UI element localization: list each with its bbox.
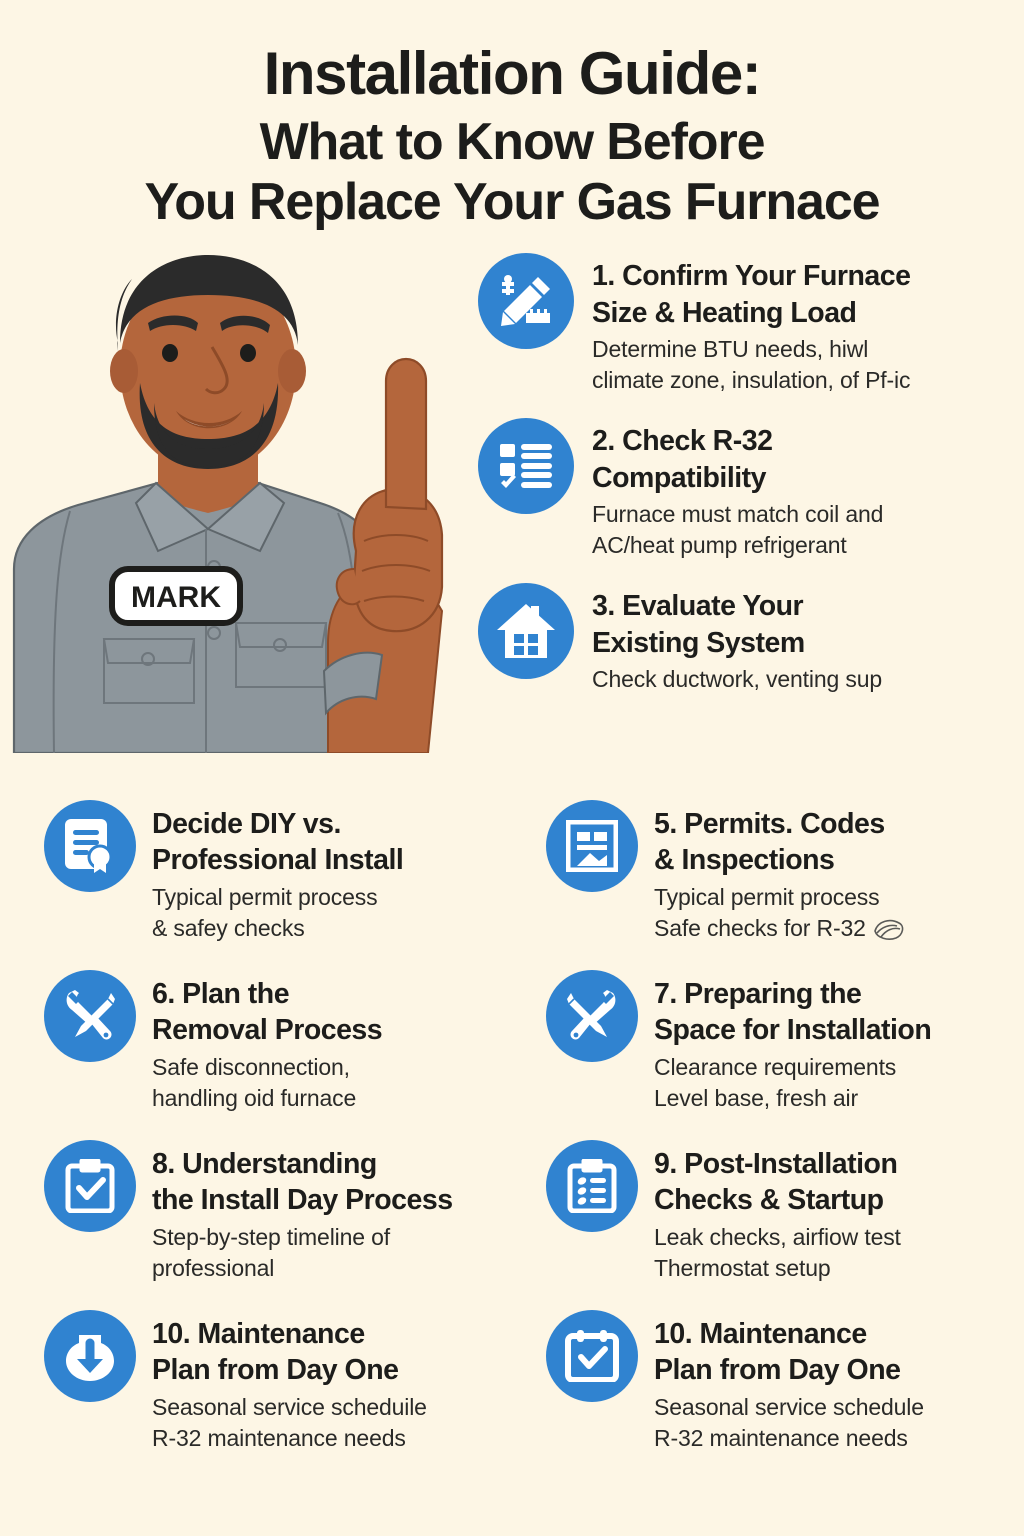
- item-title-line-1: 10. Maintenance: [152, 1318, 365, 1350]
- item-title-line-2: & Inspections: [654, 844, 834, 876]
- item-desc-line-2: Level base, fresh air: [654, 1085, 858, 1111]
- pencil-ruler-icon: [478, 253, 574, 349]
- title-line-3: You Replace Your Gas Furnace: [34, 172, 990, 233]
- item-text: 7. Preparing the Space for Installation …: [654, 970, 1016, 1113]
- checklist-icon: [478, 418, 574, 514]
- item-desc-line-1: Safe disconnection,: [152, 1054, 350, 1080]
- steps-grid: Decide DIY vs. Professional Install Typi…: [0, 800, 1024, 1480]
- list-item[interactable]: Decide DIY vs. Professional Install Typi…: [44, 800, 534, 970]
- item-desc-line-2: R-32 maintenance needs: [152, 1425, 406, 1451]
- item-title-line-2: Size & Heating Load: [592, 297, 856, 329]
- clipboard-check-icon: [44, 1140, 136, 1232]
- item-text: 6. Plan the Removal Process Safe disconn…: [152, 970, 534, 1113]
- list-item[interactable]: 2. Check R-32 Compatibility Furnace must…: [478, 418, 1018, 560]
- item-text: 8. Understanding the Install Day Process…: [152, 1140, 534, 1283]
- item-desc-line-1: Typical permit process: [654, 884, 880, 910]
- item-text: 2. Check R-32 Compatibility Furnace must…: [592, 418, 1018, 560]
- certificate-icon: [44, 800, 136, 892]
- item-title: 1. Confirm Your Furnace Size & Heating L…: [592, 258, 1018, 331]
- item-desc-line-1: Seasonal service schedule: [654, 1394, 924, 1420]
- item-title-line-1: 7. Preparing the: [654, 978, 861, 1010]
- item-description: Seasonal service scheduile R-32 maintena…: [152, 1392, 534, 1453]
- list-item[interactable]: 10. Maintenance Plan from Day One Season…: [546, 1310, 1016, 1480]
- item-desc-line-1: Step-by-step timeline of: [152, 1224, 390, 1250]
- item-desc-line-2: climate zone, insulation, of Pf-ic: [592, 367, 910, 393]
- item-title-line-1: 10. Maintenance: [654, 1318, 867, 1350]
- item-title-line-2: Professional Install: [152, 844, 403, 876]
- item-text: Decide DIY vs. Professional Install Typi…: [152, 800, 534, 943]
- top-section: MARK: [0, 251, 1024, 751]
- item-title: 10. Maintenance Plan from Day One: [152, 1316, 534, 1389]
- item-text: 10. Maintenance Plan from Day One Season…: [152, 1310, 534, 1453]
- item-title-line-2: Existing System: [592, 627, 805, 659]
- item-title: 10. Maintenance Plan from Day One: [654, 1316, 1016, 1389]
- item-desc-line-2: Thermostat setup: [654, 1255, 831, 1281]
- item-description: Leak checks, airfiow test Thermostat set…: [654, 1222, 1016, 1283]
- svg-text:MARK: MARK: [131, 581, 221, 614]
- list-item[interactable]: 10. Maintenance Plan from Day One Season…: [44, 1310, 534, 1480]
- item-desc-line-2: & safey checks: [152, 915, 305, 941]
- screwdriver-wrench-icon: [546, 970, 638, 1062]
- list-item[interactable]: 7. Preparing the Space for Installation …: [546, 970, 1016, 1140]
- item-text: 5. Permits. Codes & Inspections Typical …: [654, 800, 1016, 948]
- list-item[interactable]: 8. Understanding the Install Day Process…: [44, 1140, 534, 1310]
- download-arrow-icon: [44, 1310, 136, 1402]
- item-title-line-1: 6. Plan the: [152, 978, 289, 1010]
- scribble-artifact-icon: [872, 917, 906, 949]
- item-description: Seasonal service schedule R-32 maintenan…: [654, 1392, 1016, 1453]
- item-title-line-2: the Install Day Process: [152, 1184, 453, 1216]
- item-desc-line-1: Determine BTU needs, hiwl: [592, 336, 868, 362]
- item-description: Typical permit process Safe checks for R…: [654, 882, 1016, 948]
- item-desc-line-2: handling oid furnace: [152, 1085, 356, 1111]
- list-item[interactable]: 9. Post-Installation Checks & Startup Le…: [546, 1140, 1016, 1310]
- item-description: Safe disconnection, handling oid furnace: [152, 1052, 534, 1113]
- list-item[interactable]: 5. Permits. Codes & Inspections Typical …: [546, 800, 1016, 970]
- item-title: 8. Understanding the Install Day Process: [152, 1146, 534, 1219]
- item-title: 7. Preparing the Space for Installation: [654, 976, 1016, 1049]
- item-title-line-2: Plan from Day One: [654, 1354, 900, 1386]
- page-title: Installation Guide: What to Know Before …: [0, 0, 1024, 233]
- item-title-line-2: Removal Process: [152, 1014, 382, 1046]
- item-title-line-2: Compatibility: [592, 462, 766, 494]
- item-title: 9. Post-Installation Checks & Startup: [654, 1146, 1016, 1219]
- item-title-line-1: 9. Post-Installation: [654, 1148, 897, 1180]
- document-image-icon: [546, 800, 638, 892]
- item-title: 2. Check R-32 Compatibility: [592, 423, 1018, 496]
- item-desc-line-1: Typical permit process: [152, 884, 378, 910]
- house-icon: [478, 583, 574, 679]
- item-title-line-1: Decide DIY vs.: [152, 808, 341, 840]
- item-description: Determine BTU needs, hiwl climate zone, …: [592, 334, 1018, 395]
- item-desc-line-1: Furnace must match coil and: [592, 501, 883, 527]
- item-title-line-2: Plan from Day One: [152, 1354, 398, 1386]
- item-title-line-1: 3. Evaluate Your: [592, 590, 803, 622]
- item-desc-line-1: Leak checks, airfiow test: [654, 1224, 901, 1250]
- item-desc-line-2: R-32 maintenance needs: [654, 1425, 908, 1451]
- top-items-list: 1. Confirm Your Furnace Size & Heating L…: [478, 253, 1018, 718]
- item-text: 10. Maintenance Plan from Day One Season…: [654, 1310, 1016, 1453]
- technician-illustration: MARK: [8, 251, 460, 753]
- item-description: Step-by-step timeline of professional: [152, 1222, 534, 1283]
- item-title: Decide DIY vs. Professional Install: [152, 806, 534, 879]
- item-desc-line-1: Check ductwork, venting sup: [592, 666, 882, 692]
- item-desc-line-2: AC/heat pump refrigerant: [592, 532, 847, 558]
- item-text: 3. Evaluate Your Existing System Check d…: [592, 583, 1018, 695]
- list-item[interactable]: 1. Confirm Your Furnace Size & Heating L…: [478, 253, 1018, 395]
- item-title: 3. Evaluate Your Existing System: [592, 588, 1018, 661]
- item-title-line-2: Checks & Startup: [654, 1184, 884, 1216]
- item-text: 9. Post-Installation Checks & Startup Le…: [654, 1140, 1016, 1283]
- clipboard-list-icon: [546, 1140, 638, 1232]
- list-item[interactable]: 3. Evaluate Your Existing System Check d…: [478, 583, 1018, 695]
- title-line-2: What to Know Before: [34, 112, 990, 173]
- item-description: Typical permit process & safey checks: [152, 882, 534, 943]
- item-title-line-2: Space for Installation: [654, 1014, 931, 1046]
- title-line-1: Installation Guide:: [34, 42, 990, 106]
- item-title: 5. Permits. Codes & Inspections: [654, 806, 1016, 879]
- item-title: 6. Plan the Removal Process: [152, 976, 534, 1049]
- list-item[interactable]: 6. Plan the Removal Process Safe disconn…: [44, 970, 534, 1140]
- item-text: 1. Confirm Your Furnace Size & Heating L…: [592, 253, 1018, 395]
- item-description: Check ductwork, venting sup: [592, 664, 1018, 695]
- item-description: Clearance requirements Level base, fresh…: [654, 1052, 1016, 1113]
- calendar-check-icon: [546, 1310, 638, 1402]
- item-title-line-1: 5. Permits. Codes: [654, 808, 885, 840]
- item-description: Furnace must match coil and AC/heat pump…: [592, 499, 1018, 560]
- item-desc-line-2: professional: [152, 1255, 274, 1281]
- wrench-screwdriver-icon: [44, 970, 136, 1062]
- item-title-line-1: 1. Confirm Your Furnace: [592, 260, 910, 292]
- name-badge: MARK: [112, 569, 240, 623]
- item-desc-line-2: Safe checks for R-32: [654, 915, 866, 941]
- item-title-line-1: 8. Understanding: [152, 1148, 377, 1180]
- item-desc-line-1: Seasonal service scheduile: [152, 1394, 427, 1420]
- item-title-line-1: 2. Check R-32: [592, 425, 772, 457]
- item-desc-line-1: Clearance requirements: [654, 1054, 896, 1080]
